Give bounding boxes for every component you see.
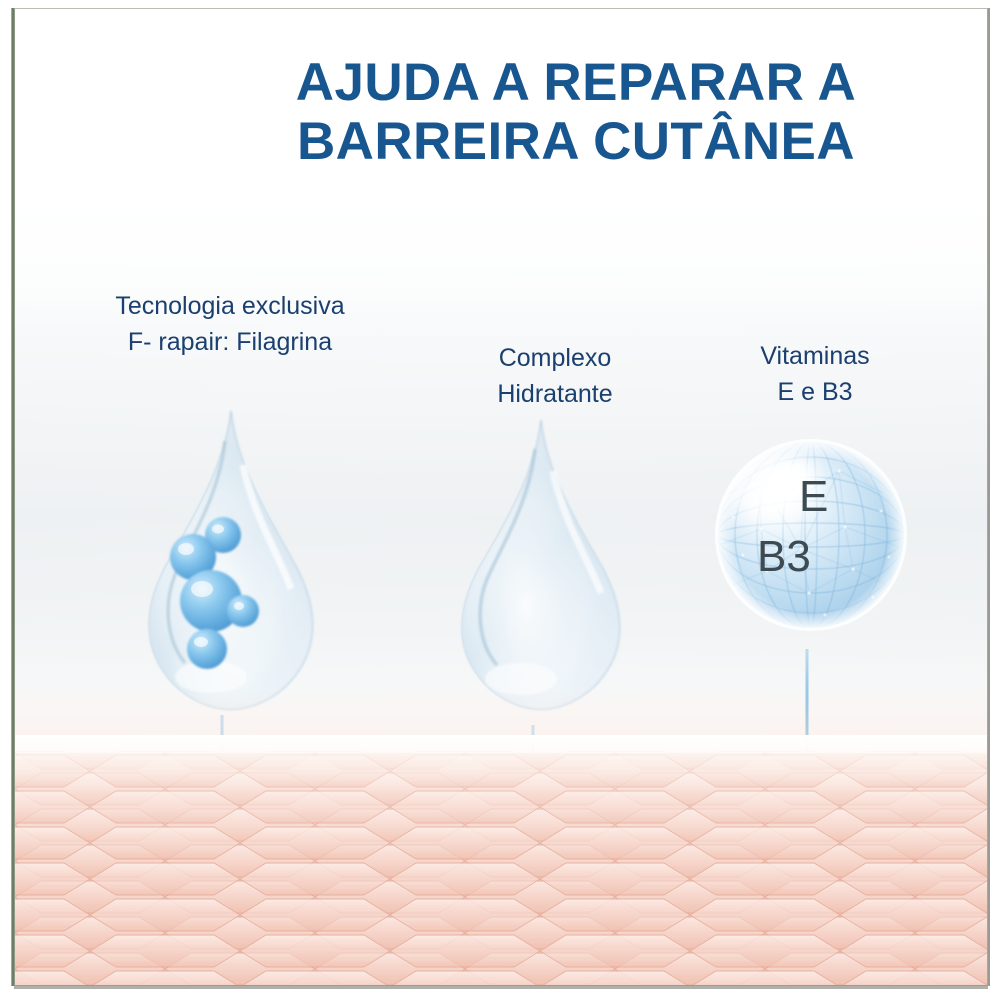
poster-frame: AJUDA A REPARAR A BARREIRA CUTÂNEA Tecno… (14, 8, 988, 986)
water-droplet-with-molecule-icon (133, 405, 329, 715)
ingredient-label-line-1: Complexo (440, 341, 670, 377)
ingredient-label-line-1: Tecnologia exclusiva (85, 289, 375, 325)
ingredient-label-complexo-hidratante: Complexo Hidratante (440, 341, 670, 412)
title-line-1: AJUDA A REPARAR A (165, 53, 987, 112)
vitamin-sphere-icon (713, 437, 909, 633)
title-line-2: BARREIRA CUTÂNEA (165, 112, 987, 171)
page-title: AJUDA A REPARAR A BARREIRA CUTÂNEA (15, 53, 987, 172)
skincare-benefit-infographic: AJUDA A REPARAR A BARREIRA CUTÂNEA Tecno… (0, 0, 1000, 1000)
skin-layer-illustration (15, 735, 987, 985)
ingredient-label-line-2: E e B3 (715, 375, 915, 411)
water-droplet-icon (447, 415, 635, 715)
ingredient-label-line-2: Hidratante (440, 377, 670, 413)
ingredient-label-line-2: F- rapair: Filagrina (85, 325, 375, 361)
ingredient-label-line-1: Vitaminas (715, 339, 915, 375)
ingredient-label-vitaminas: Vitaminas E e B3 (715, 339, 915, 410)
ingredient-label-filagrina: Tecnologia exclusiva F- rapair: Filagrin… (85, 289, 375, 360)
